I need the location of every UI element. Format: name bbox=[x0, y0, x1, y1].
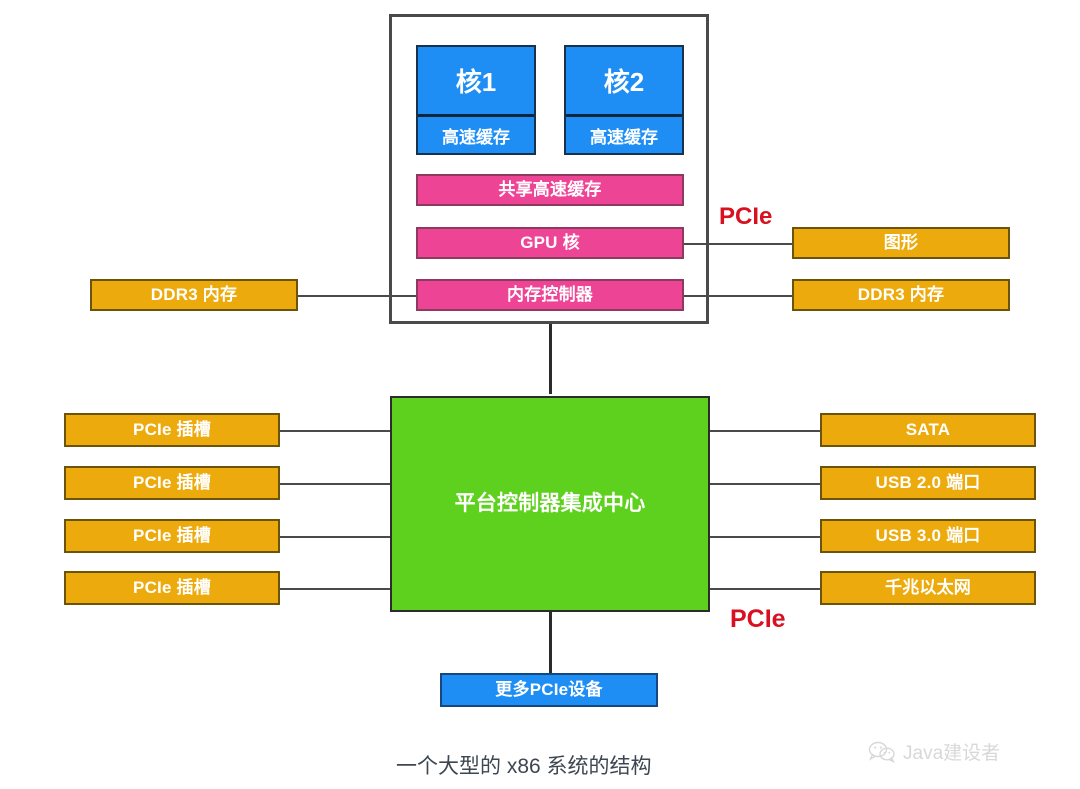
connector-sata bbox=[710, 430, 820, 432]
connector-pcie-slot-3 bbox=[280, 536, 390, 538]
diagram-canvas: 核1 高速缓存 核2 高速缓存 共享高速缓存 GPU 核 内存控制器 DDR3 … bbox=[0, 0, 1080, 789]
connector-pcie-slot-4 bbox=[280, 588, 390, 590]
pcie-label-top: PCIe bbox=[719, 203, 772, 231]
usb-2-block[interactable]: USB 2.0 端口 bbox=[820, 466, 1036, 500]
connector-ddr3-right bbox=[684, 295, 792, 297]
connector-cpu-pch bbox=[549, 324, 552, 394]
graphics-block[interactable]: 图形 bbox=[792, 227, 1010, 259]
watermark: Java建设者 bbox=[868, 738, 1000, 765]
connector-gigabit-ethernet bbox=[710, 588, 820, 590]
core-2-label: 核2 bbox=[566, 47, 682, 117]
pcie-slot-1[interactable]: PCIe 插槽 bbox=[64, 413, 280, 447]
core-1-cache-label: 高速缓存 bbox=[418, 117, 534, 153]
connector-pcie-slot-2 bbox=[280, 483, 390, 485]
platform-controller-hub[interactable]: 平台控制器集成中心 bbox=[390, 396, 710, 612]
pcie-label-bottom: PCIe bbox=[730, 605, 786, 634]
more-pcie-devices-block[interactable]: 更多PCIe设备 bbox=[440, 673, 658, 707]
core-unit-2[interactable]: 核2 高速缓存 bbox=[564, 45, 684, 155]
connector-gpu-graphics bbox=[684, 243, 792, 245]
connector-pch-more-pcie bbox=[549, 612, 552, 674]
core-1-label: 核1 bbox=[418, 47, 534, 117]
shared-cache-block[interactable]: 共享高速缓存 bbox=[416, 174, 684, 206]
watermark-text: Java建设者 bbox=[903, 738, 1000, 765]
wechat-icon bbox=[868, 741, 896, 763]
pcie-slot-2[interactable]: PCIe 插槽 bbox=[64, 466, 280, 500]
connector-ddr3-left bbox=[298, 295, 416, 297]
gigabit-ethernet-block[interactable]: 千兆以太网 bbox=[820, 571, 1036, 605]
core-unit-1[interactable]: 核1 高速缓存 bbox=[416, 45, 536, 155]
connector-pcie-slot-1 bbox=[280, 430, 390, 432]
ddr3-memory-left[interactable]: DDR3 内存 bbox=[90, 279, 298, 311]
gpu-core-block[interactable]: GPU 核 bbox=[416, 227, 684, 259]
connector-usb-2 bbox=[710, 483, 820, 485]
sata-block[interactable]: SATA bbox=[820, 413, 1036, 447]
connector-usb-3 bbox=[710, 536, 820, 538]
usb-3-block[interactable]: USB 3.0 端口 bbox=[820, 519, 1036, 553]
core-2-cache-label: 高速缓存 bbox=[566, 117, 682, 153]
pcie-slot-4[interactable]: PCIe 插槽 bbox=[64, 571, 280, 605]
diagram-caption: 一个大型的 x86 系统的结构 bbox=[396, 750, 652, 780]
pcie-slot-3[interactable]: PCIe 插槽 bbox=[64, 519, 280, 553]
ddr3-memory-right[interactable]: DDR3 内存 bbox=[792, 279, 1010, 311]
memory-controller-block[interactable]: 内存控制器 bbox=[416, 279, 684, 311]
